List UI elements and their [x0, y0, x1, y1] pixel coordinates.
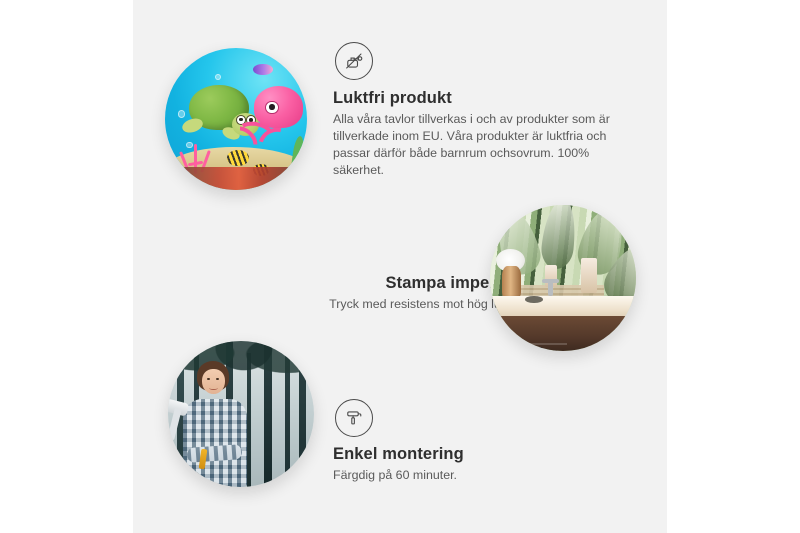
underwater-scene	[165, 48, 307, 190]
product-feature-infographic: Luktfri produkt Alla våra tavlor tillver…	[0, 0, 800, 533]
octopus-head	[254, 86, 302, 127]
woman-eye	[216, 378, 219, 380]
yellow-fish	[227, 150, 248, 166]
vase	[502, 266, 521, 298]
drawer-handle	[510, 347, 541, 348]
no-odour-perfume-icon	[335, 42, 373, 80]
feature-body: Alla våra tavlor tillverkas i och av pro…	[333, 111, 628, 179]
woman-plaid-shirt	[183, 399, 247, 487]
forest-scene	[168, 341, 314, 487]
purple-fish	[253, 64, 273, 75]
feature-body: Färgdig på 60 minuter.	[333, 467, 633, 484]
woman-eye	[207, 378, 210, 380]
towel	[581, 258, 597, 293]
forest-canopy	[168, 341, 314, 408]
paint-roller-icon	[335, 399, 373, 437]
feature-easy-mounting: Enkel montering Färgdig på 60 minuter.	[333, 399, 633, 484]
feature-image-forest	[168, 341, 314, 487]
cabinet-handle	[609, 344, 613, 350]
soap-dish	[525, 296, 543, 303]
bathroom-scene	[490, 205, 636, 351]
feature-image-bathroom	[490, 205, 636, 351]
octopus-eye	[265, 101, 278, 114]
bubble-icon	[215, 74, 221, 80]
content-panel: Luktfri produkt Alla våra tavlor tillver…	[133, 0, 667, 533]
faucet	[548, 279, 552, 295]
feature-odour-free: Luktfri produkt Alla våra tavlor tillver…	[333, 42, 628, 179]
reef-foreground	[165, 167, 307, 190]
feature-image-underwater	[165, 48, 307, 190]
feature-title: Luktfri produkt	[333, 89, 628, 108]
feature-title: Enkel montering	[333, 445, 633, 464]
wooden-vanity	[493, 316, 636, 351]
